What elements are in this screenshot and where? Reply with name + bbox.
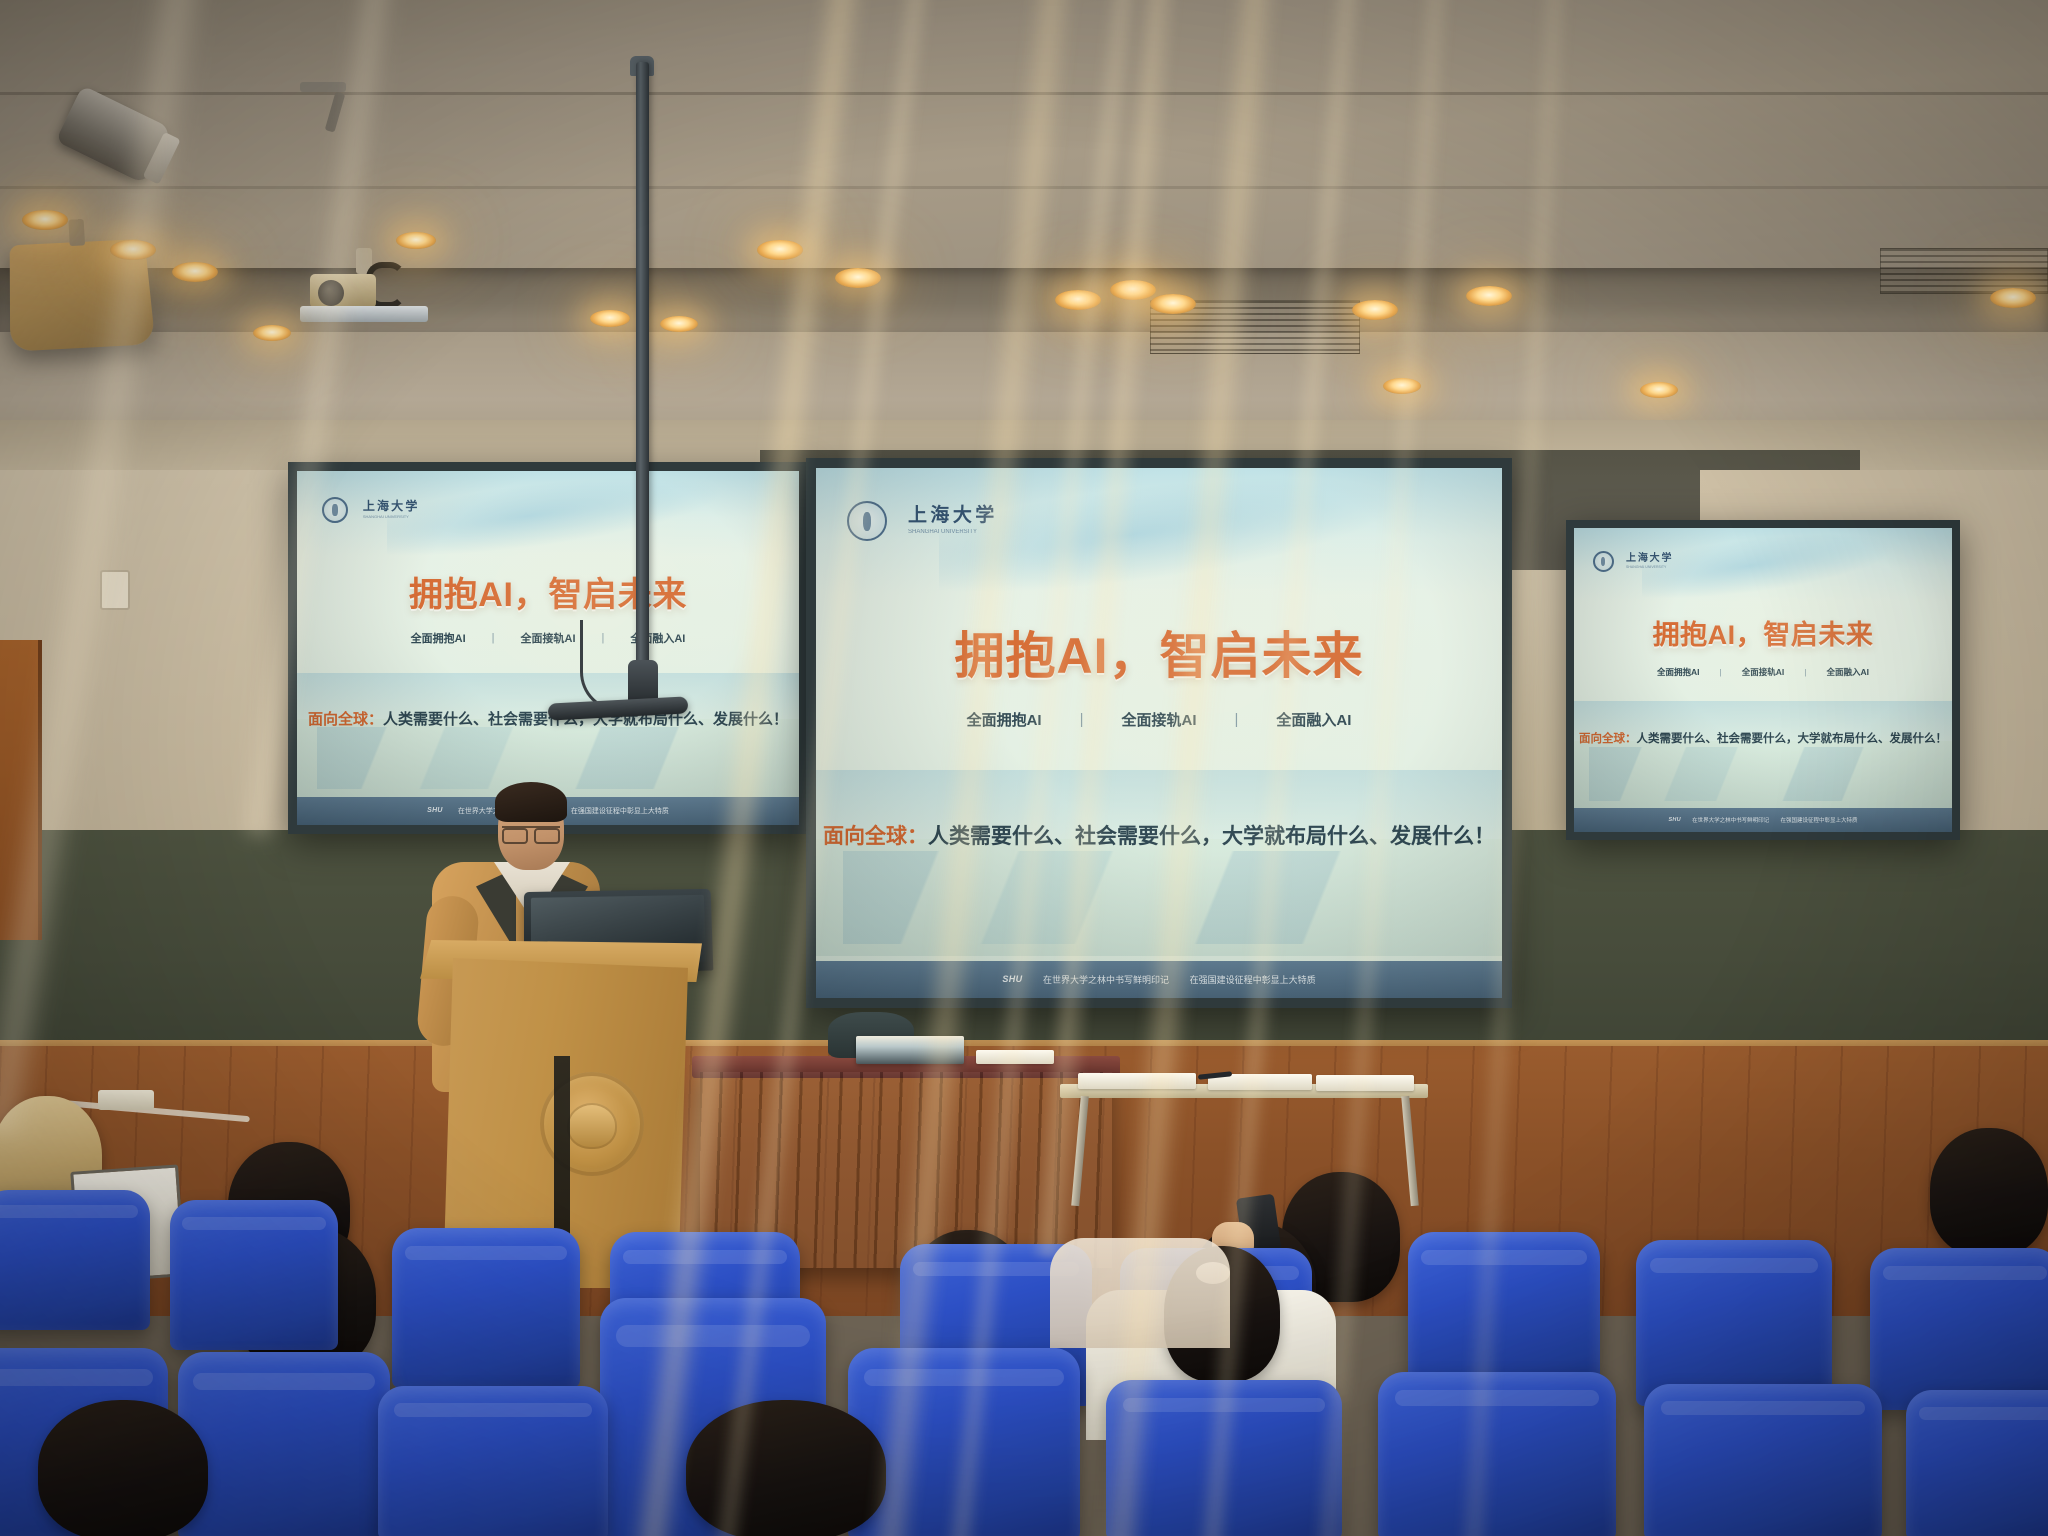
subitem-1: 全面拥抱AI: [411, 630, 466, 646]
slide-body-text: 人类需要什么、社会需要什么，大学就布局什么、发展什么！: [1637, 733, 1948, 745]
subitem-3: 全面融入AI: [1826, 666, 1869, 678]
subitem-2: 全面接轨AI: [1742, 666, 1785, 678]
shu-seal-icon: [1593, 551, 1614, 572]
recessed-downlight: [22, 210, 68, 230]
seat[interactable]: [1906, 1390, 2048, 1536]
subitem-separator: |: [1804, 667, 1806, 677]
presenter-glasses-icon: [502, 826, 560, 838]
slide-footer: SHU 在世界大学之林中书写鲜明印记 在强国建设征程中彰显上大特质: [1574, 808, 1952, 832]
slide-title: 拥抱AI，智启未来: [297, 567, 799, 616]
hanging-microphone-pole: [636, 62, 649, 682]
subitem-1: 全面拥抱AI: [967, 709, 1042, 730]
recessed-downlight: [253, 325, 291, 341]
shu-logo: 上海大学 SHANGHAI UNIVERSITY: [847, 489, 1149, 553]
recessed-downlight: [396, 232, 436, 249]
seat[interactable]: [1378, 1372, 1616, 1536]
slide-left: 上海大学 SHANGHAI UNIVERSITY 拥抱AI，智启未来 全面拥抱A…: [297, 471, 799, 825]
slide-body-text: 人类需要什么、社会需要什么，大学就布局什么、发展什么！: [928, 825, 1495, 848]
seat[interactable]: [1870, 1248, 2048, 1410]
subitem-separator: |: [1720, 667, 1722, 677]
left-screen[interactable]: 上海大学 SHANGHAI UNIVERSITY 拥抱AI，智启未来 全面拥抱A…: [297, 471, 799, 825]
shu-seal-icon: [322, 497, 348, 523]
recessed-downlight: [660, 316, 698, 332]
side-door[interactable]: [0, 640, 42, 940]
slide-title: 拥抱AI，智启未来: [816, 616, 1502, 688]
shu-logo: 上海大学 SHANGHAI UNIVERSITY: [322, 489, 533, 531]
shu-seal-icon: [847, 501, 887, 541]
shu-logo: 上海大学 SHANGHAI UNIVERSITY: [1593, 543, 1767, 579]
shu-mark: SHU: [1002, 974, 1022, 984]
paper-sheet: [976, 1050, 1054, 1064]
org-name: 上海大学: [908, 506, 998, 525]
slide-body-lead: 面向全球：: [1579, 733, 1637, 745]
slide-title: 拥抱AI，智启未来: [1574, 613, 1952, 652]
seat[interactable]: [1644, 1384, 1882, 1536]
spotlight-mount: [300, 82, 346, 92]
book-stack: [856, 1036, 964, 1064]
seat[interactable]: [392, 1228, 580, 1388]
recessed-downlight: [1990, 288, 2036, 308]
recessed-downlight: [1383, 378, 1421, 394]
seat[interactable]: [848, 1348, 1080, 1536]
ceiling-vent: [1880, 248, 2048, 294]
paper-sheet: [1316, 1075, 1414, 1091]
paper-sheet: [1078, 1073, 1196, 1089]
subitem-separator: |: [1235, 711, 1239, 728]
footer-right-text: 在强国建设征程中彰显上大特质: [1780, 816, 1857, 824]
seat[interactable]: [1636, 1240, 1832, 1406]
slide-subitems: 全面拥抱AI | 全面接轨AI | 全面融入AI: [297, 630, 799, 646]
right-screen[interactable]: 上海大学 SHANGHAI UNIVERSITY 拥抱AI，智启未来 全面拥抱A…: [1574, 528, 1952, 832]
slide-body: 面向全球：人类需要什么、社会需要什么，大学就布局什么、发展什么！: [1574, 730, 1952, 746]
audience-head: [1930, 1128, 2048, 1256]
wall-outlet: [100, 570, 130, 610]
subitem-3: 全面融入AI: [1276, 709, 1351, 730]
center-screen-frame: 上海大学 SHANGHAI UNIVERSITY 拥抱AI，智启未来 全面拥抱A…: [806, 458, 1512, 1008]
slide-footer: SHU 在世界大学之林中书写鲜明印记 在强国建设征程中彰显上大特质: [816, 961, 1502, 998]
org-name-en: SHANGHAI UNIVERSITY: [363, 515, 420, 519]
audience-head: [38, 1400, 208, 1536]
recessed-downlight: [835, 268, 881, 288]
center-screen[interactable]: 上海大学 SHANGHAI UNIVERSITY 拥抱AI，智启未来 全面拥抱A…: [816, 468, 1502, 998]
slide-body: 面向全球：人类需要什么、社会需要什么，大学就布局什么、发展什么！: [816, 820, 1502, 850]
shu-mark: SHU: [1669, 817, 1681, 823]
audience-head: [686, 1400, 886, 1536]
recessed-downlight: [757, 240, 803, 260]
recessed-downlight: [1055, 290, 1101, 310]
recessed-downlight: [1640, 382, 1678, 398]
ceiling-camera-icon: [300, 250, 428, 322]
seat[interactable]: [178, 1352, 390, 1536]
subitem-separator: |: [1080, 711, 1084, 728]
footer-left-text: 在世界大学之林中书写鲜明印记: [1043, 973, 1169, 986]
lecture-hall-scene: 上海大学 SHANGHAI UNIVERSITY 拥抱AI，智启未来 全面拥抱A…: [0, 0, 2048, 1536]
slide-body-lead: 面向全球：: [823, 825, 928, 848]
recessed-downlight: [1110, 280, 1156, 300]
seat[interactable]: [378, 1386, 608, 1536]
seat[interactable]: [170, 1200, 338, 1350]
presenter-hair: [495, 782, 567, 822]
right-screen-frame: 上海大学 SHANGHAI UNIVERSITY 拥抱AI，智启未来 全面拥抱A…: [1566, 520, 1960, 840]
recessed-downlight: [590, 310, 630, 327]
slide-subitems: 全面拥抱AI | 全面接轨AI | 全面融入AI: [816, 709, 1502, 730]
slide-body-lead: 面向全球：: [308, 711, 383, 728]
recessed-downlight: [172, 262, 218, 282]
recessed-downlight: [1150, 294, 1196, 314]
slide-subitems: 全面拥抱AI | 全面接轨AI | 全面融入AI: [1574, 666, 1952, 678]
org-name: 上海大学: [363, 500, 420, 512]
power-strip: [98, 1090, 154, 1110]
org-name-en: SHANGHAI UNIVERSITY: [1626, 566, 1673, 570]
seat[interactable]: [0, 1190, 150, 1330]
org-name-en: SHANGHAI UNIVERSITY: [908, 529, 998, 535]
recessed-downlight: [1466, 286, 1512, 306]
org-name: 上海大学: [1626, 554, 1673, 564]
subitem-separator: |: [492, 632, 495, 644]
audience-shoulders: [1050, 1238, 1230, 1348]
subitem-2: 全面接轨AI: [521, 630, 576, 646]
subitem-2: 全面接轨AI: [1121, 709, 1196, 730]
recessed-downlight: [110, 240, 156, 260]
shu-mark: SHU: [427, 807, 443, 814]
slide-right: 上海大学 SHANGHAI UNIVERSITY 拥抱AI，智启未来 全面拥抱A…: [1574, 528, 1952, 832]
footer-right-text: 在强国建设征程中彰显上大特质: [1190, 973, 1316, 986]
slide-center: 上海大学 SHANGHAI UNIVERSITY 拥抱AI，智启未来 全面拥抱A…: [816, 468, 1502, 998]
footer-right-text: 在强国建设征程中彰显上大特质: [571, 806, 669, 816]
footer-left-text: 在世界大学之林中书写鲜明印记: [1692, 816, 1769, 824]
subitem-1: 全面拥抱AI: [1657, 666, 1700, 678]
seat[interactable]: [1106, 1380, 1342, 1536]
left-screen-frame: 上海大学 SHANGHAI UNIVERSITY 拥抱AI，智启未来 全面拥抱A…: [288, 462, 808, 834]
recessed-downlight: [1352, 300, 1398, 320]
